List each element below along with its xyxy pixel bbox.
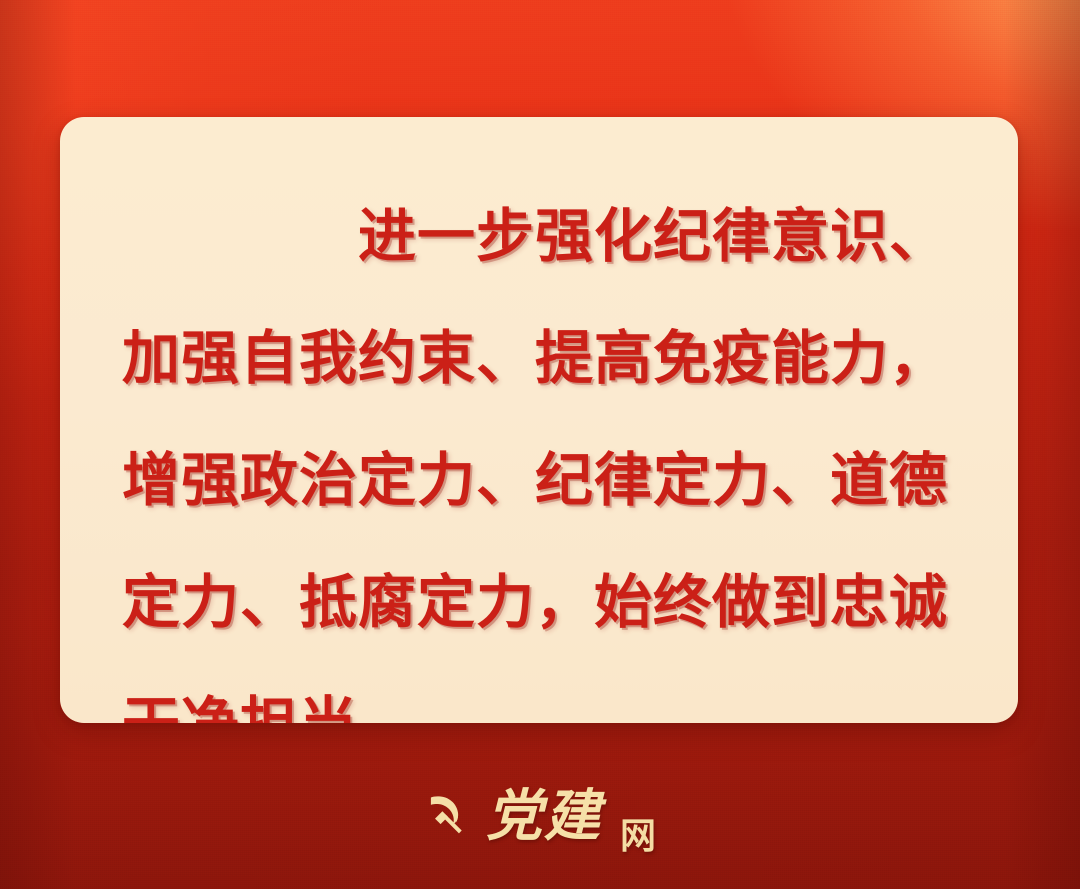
headline-text: 进一步强化纪律意识、加强自我约束、提高免疫能力，增强政治定力、纪律定力、道德定力… bbox=[122, 175, 962, 723]
hammer-and-sickle-emblem bbox=[424, 791, 470, 837]
brand-name: 党建 bbox=[486, 788, 602, 844]
brand-footer: 党建 网 bbox=[0, 776, 1080, 856]
poster-root: 进一步强化纪律意识、加强自我约束、提高免疫能力，增强政治定力、纪律定力、道德定力… bbox=[0, 0, 1080, 889]
brand-suffix: 网 bbox=[620, 818, 656, 854]
quote-card: 进一步强化纪律意识、加强自我约束、提高免疫能力，增强政治定力、纪律定力、道德定力… bbox=[60, 117, 1018, 723]
